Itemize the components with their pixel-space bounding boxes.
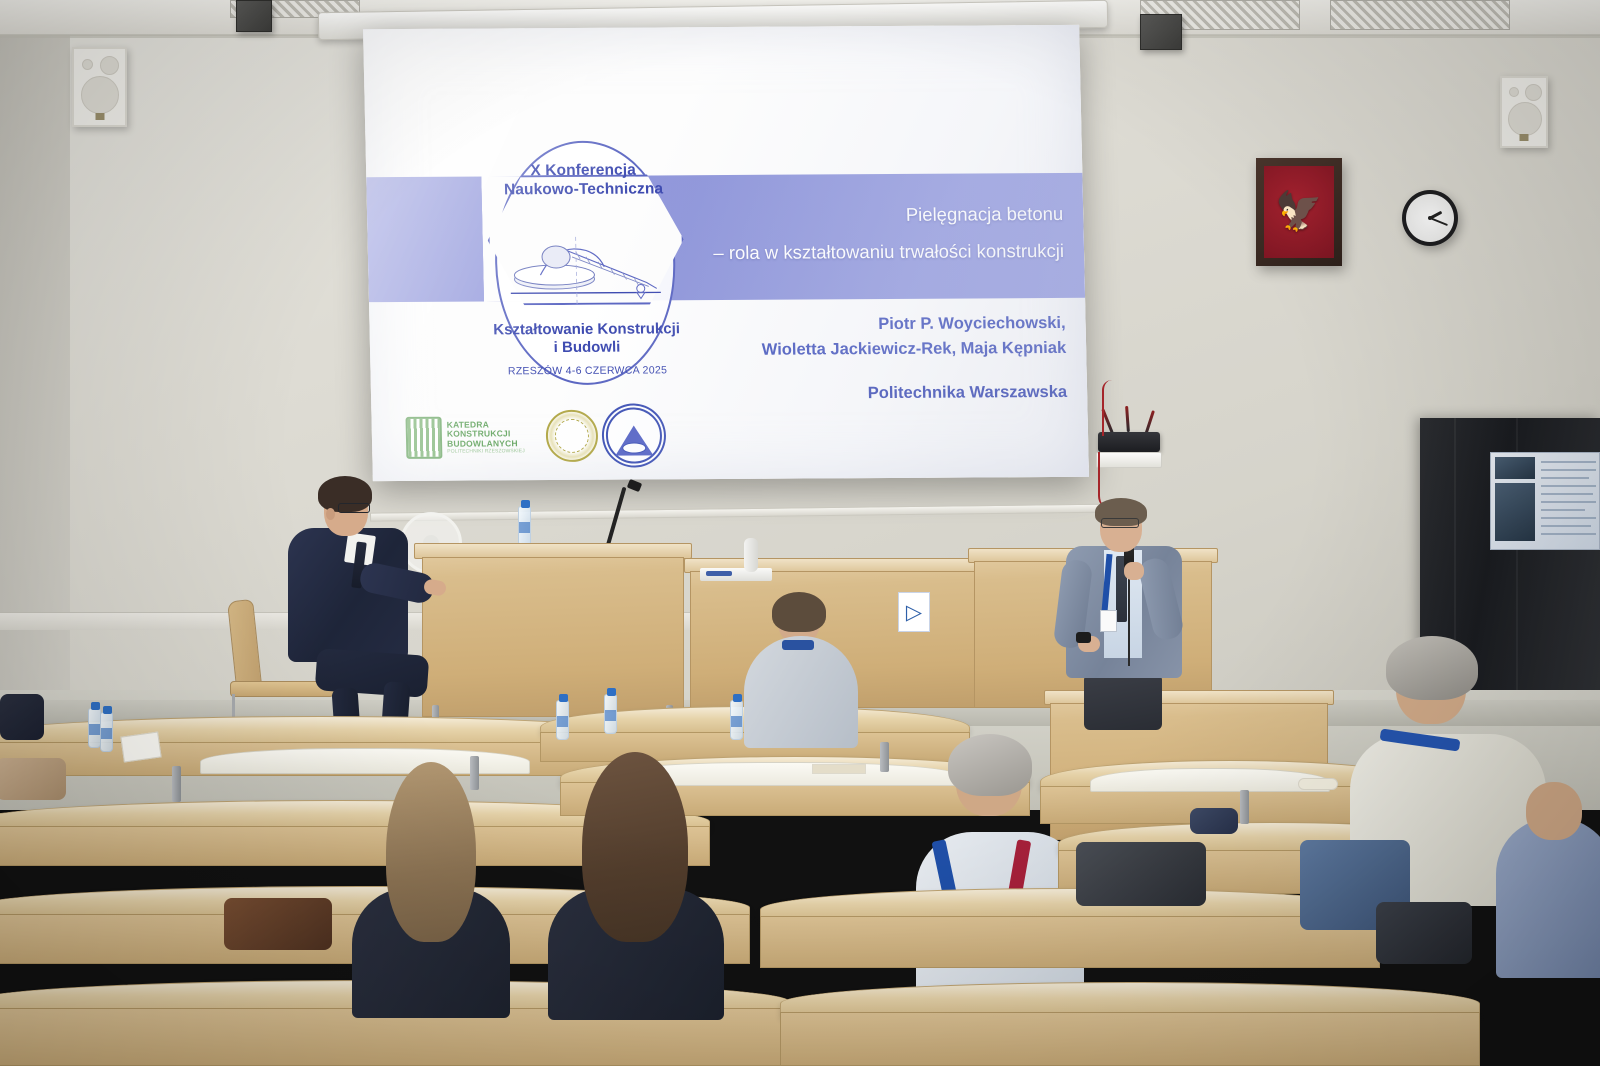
audience-woman-long-brown-hair [548,760,728,995]
podium-front-panel [422,557,684,717]
grey-hair [1386,636,1478,700]
microphone-cord [1128,574,1130,666]
wall-speaker-icon [72,47,127,127]
long-hair [386,762,476,942]
projection-screen: X KonferencjaNaukowo-Techniczna Kształto… [363,25,1089,481]
dark-jacket [0,694,44,740]
slide-logo-strip: KATEDRA KONSTRUKCJI BUDOWLANYCH POLITECH… [405,405,656,469]
ceiling-cable [1102,380,1112,436]
small-item [1298,778,1338,790]
clock-minute-hand [1430,217,1448,226]
eyeglasses-icon [338,503,370,513]
audience-grey-shirt-center [744,596,864,766]
light-grey-shirt [744,636,858,748]
bench-leg [880,742,889,772]
presentation-clicker [1076,632,1091,643]
polish-eagle-emblem-frame: 🦅 [1256,158,1342,266]
bench-leg [470,756,479,790]
water-bottle [556,700,569,740]
trousers [1084,674,1162,730]
right-hand [1124,562,1144,580]
hair [772,592,826,632]
katedra-logo: KATEDRA KONSTRUKCJI BUDOWLANYCH POLITECH… [405,414,534,461]
document-camera-button [706,571,732,576]
slide-title: Pielęgnacja betonu– rola w kształtowaniu… [633,195,1065,272]
water-bottle [100,712,113,752]
small-bag [1190,808,1238,834]
katedra-logo-text: KATEDRA KONSTRUKCJI BUDOWLANYCH [447,420,525,449]
emblem-title-top: X KonferencjaNaukowo-Techniczna [488,160,679,199]
clock-center-pin [1428,216,1432,220]
ceiling-light-grille [1330,0,1510,30]
lecture-hall-photo: X KonferencjaNaukowo-Techniczna Kształto… [0,0,1600,1066]
desk-writing-surface [1090,768,1330,792]
ceiling-mount-bracket [1140,14,1182,50]
wall-speaker-icon [1500,76,1548,148]
izba-inzynierow-seal-icon [545,410,598,462]
building-mark-icon [406,417,443,459]
papers [120,731,161,762]
audience-right-edge-blue [1496,782,1600,982]
audience-woman-long-blonde-hair [352,768,512,998]
head [1526,782,1582,840]
leather-bag [224,898,332,950]
document-camera-arm [744,538,758,572]
bench-front-panel [760,916,1380,968]
thigh [315,648,430,698]
name-badge [1100,610,1117,632]
slide-authors: Piotr P. Woyciechowski,Wioletta Jackiewi… [635,311,1066,364]
blue-shirt [1496,818,1600,978]
seated-man-navy-suit [276,476,446,746]
polish-eagle-icon: 🦅 [1275,193,1322,231]
water-bottle [518,506,531,546]
clock-face [1406,194,1454,242]
bench-leg [172,766,181,802]
katedra-logo-subtext: POLITECHNIKI RZESZOWSKIEJ [447,448,525,454]
emblem-date-line: RZESZÓW 4-6 CZERWCA 2025 [492,364,682,377]
lanyard [782,640,814,650]
pzitb-gear-logo-icon [605,407,662,463]
ear [326,508,335,520]
podium-logo-sign: ▷ [898,592,930,632]
emblem-red-field: 🦅 [1264,166,1334,258]
dark-jacket-on-bench [1076,842,1206,906]
handbag [0,758,66,800]
water-bottle [730,700,743,740]
grey-hair [948,734,1032,796]
backpack [1376,902,1472,964]
bench-leg [1240,790,1249,824]
long-hair [582,752,688,942]
slide-affiliation: Politechnika Warszawska [637,383,1067,405]
presentation-slide: X KonferencjaNaukowo-Techniczna Kształto… [363,25,1089,481]
ceiling-mount-bracket [236,0,272,32]
wall-clock [1402,190,1458,246]
conference-poster [1490,452,1600,550]
lectern-podium [418,543,688,723]
eyeglasses-icon [1101,518,1139,528]
left-wall [0,0,70,760]
water-bottle [604,694,617,734]
standing-presenter [1060,498,1200,728]
bench-front-panel [780,1012,1480,1066]
